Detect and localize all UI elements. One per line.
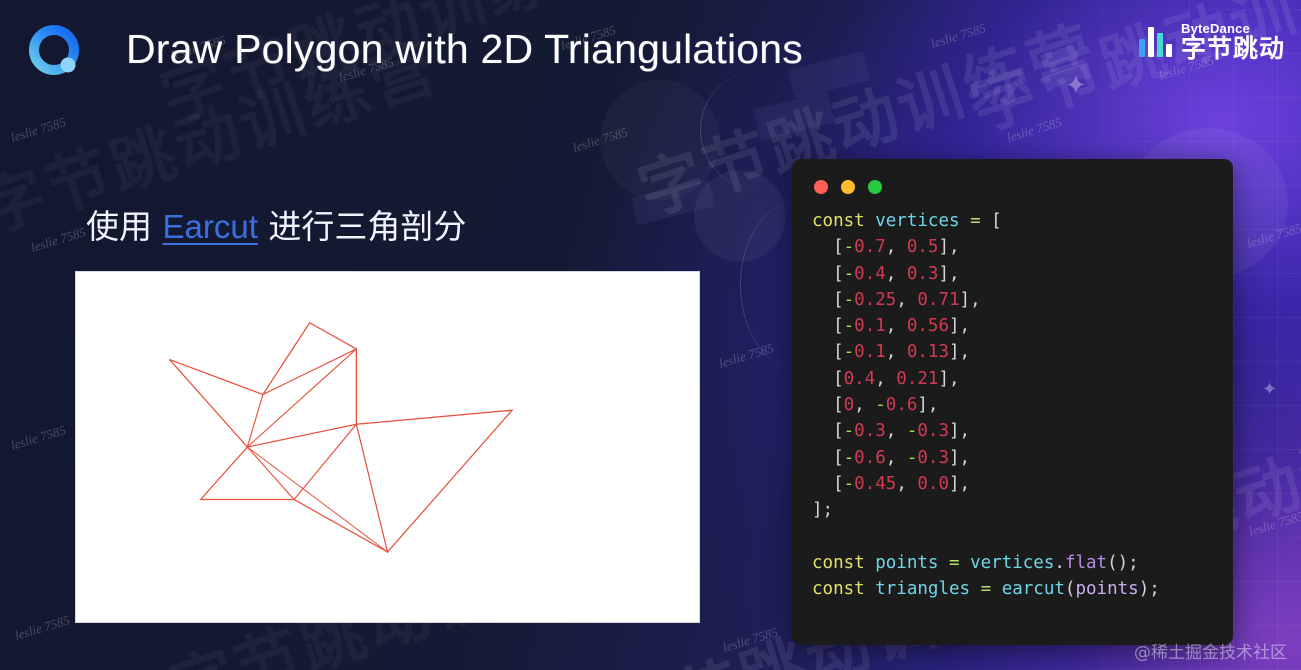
- triangle: [201, 447, 294, 500]
- subtitle-prefix: 使用: [86, 207, 163, 246]
- code-line: const triangles = earcut(points);: [812, 579, 1160, 599]
- code-line: [-0.3, -0.3],: [812, 421, 970, 441]
- polygon-svg: [76, 272, 699, 622]
- triangle: [356, 410, 512, 552]
- code-line: [0.4, 0.21],: [812, 369, 960, 389]
- bytedance-brand-logo: ByteDance 字节跳动: [1139, 16, 1285, 68]
- brand-name-cn: 字节跳动: [1181, 36, 1285, 62]
- qiankun-circle-logo-icon: [24, 20, 86, 82]
- decor-star-2: ✦: [1262, 380, 1277, 398]
- code-editor-window[interactable]: const vertices = [ [-0.7, 0.5], [-0.4, 0…: [792, 159, 1233, 645]
- subtitle: 使用 Earcut 进行三角剖分: [86, 200, 466, 248]
- triangle: [247, 349, 356, 447]
- code-line: ];: [812, 500, 833, 520]
- slide-canvas: ✦ ✦ 字节跳动训练营 字节跳动训练营 字节跳动训练营 字节跳动训练营 字节跳动…: [0, 0, 1301, 670]
- code-line: [-0.45, 0.0],: [812, 474, 970, 494]
- close-dot[interactable]: [814, 180, 828, 194]
- code-line: [-0.1, 0.13],: [812, 342, 970, 362]
- maximize-dot[interactable]: [868, 180, 882, 194]
- code-line: [0, -0.6],: [812, 395, 938, 415]
- triangulated-polygon-canvas[interactable]: [75, 271, 700, 623]
- page-title: Draw Polygon with 2D Triangulations: [126, 26, 803, 73]
- minimize-dot[interactable]: [841, 180, 855, 194]
- code-line: const vertices = [: [812, 211, 1002, 231]
- code-line: [-0.25, 0.71],: [812, 290, 981, 310]
- code-line: [-0.4, 0.3],: [812, 264, 960, 284]
- code-line: [-0.7, 0.5],: [812, 237, 960, 257]
- code-blank-line: [812, 524, 1233, 550]
- code-block[interactable]: const vertices = [ [-0.7, 0.5], [-0.4, 0…: [812, 208, 1233, 602]
- triangle: [247, 424, 387, 552]
- watermark-tile: leslie 7585: [717, 340, 776, 372]
- triangle: [263, 323, 356, 395]
- earcut-link[interactable]: Earcut: [163, 208, 258, 245]
- code-line: [-0.1, 0.56],: [812, 316, 970, 336]
- code-line: [-0.6, -0.3],: [812, 448, 970, 468]
- window-traffic-lights[interactable]: [792, 159, 1233, 194]
- triangle: [169, 360, 262, 448]
- code-line: const points = vertices.flat();: [812, 553, 1139, 573]
- subtitle-suffix: 进行三角剖分: [258, 207, 467, 246]
- bytedance-bars-icon: [1139, 27, 1172, 57]
- community-watermark: @稀土掘金技术社区: [1134, 638, 1287, 663]
- watermark-tile: leslie 7585: [13, 612, 72, 644]
- watermark-tile: leslie 7585: [9, 422, 68, 454]
